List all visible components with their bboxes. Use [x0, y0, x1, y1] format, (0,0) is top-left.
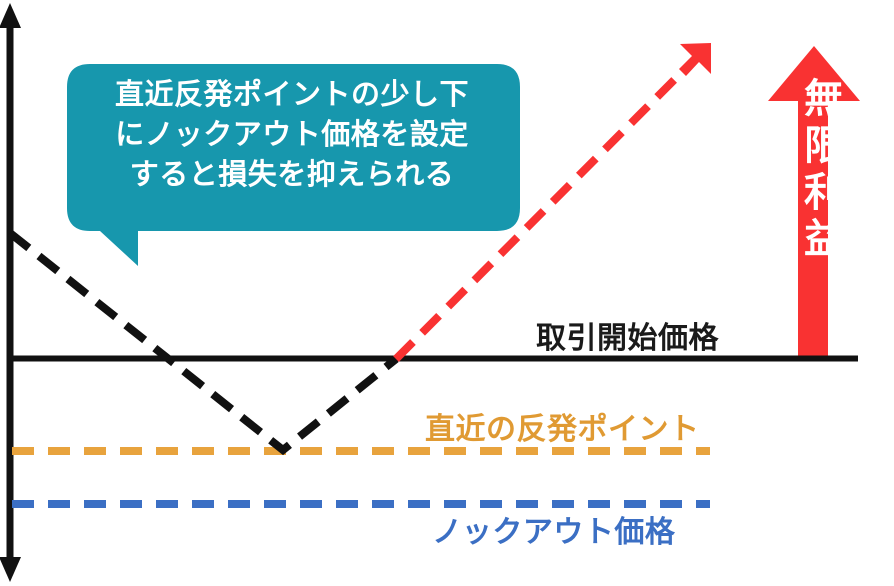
callout-line-2: にノックアウト価格を設定 — [72, 114, 512, 154]
profit-char-3: 利 — [795, 170, 853, 217]
recent-rebound-label: 直近の反発ポイント — [425, 404, 700, 448]
price-path-black — [10, 233, 396, 450]
price-axis — [0, 3, 21, 582]
open-price-label: 取引開始価格 — [536, 313, 719, 357]
callout-text: 直近反発ポイントの少し下 にノックアウト価格を設定 すると損失を抑えられる — [72, 74, 512, 194]
knockout-price-label: ノックアウト価格 — [432, 507, 675, 551]
callout-line-1: 直近反発ポイントの少し下 — [72, 74, 512, 114]
unlimited-profit-label: 無 限 利 益 — [795, 76, 853, 263]
profit-char-4: 益 — [795, 216, 853, 263]
axis-arrow-up — [0, 3, 21, 28]
profit-char-1: 無 — [795, 76, 853, 123]
callout-line-3: すると損失を抑えられる — [72, 154, 512, 194]
diagram-canvas: 直近反発ポイントの少し下 にノックアウト価格を設定 すると損失を抑えられる 無 … — [0, 0, 894, 586]
profit-char-2: 限 — [795, 123, 853, 170]
red-trend-arrowhead — [679, 43, 711, 76]
axis-arrow-down — [0, 557, 21, 582]
